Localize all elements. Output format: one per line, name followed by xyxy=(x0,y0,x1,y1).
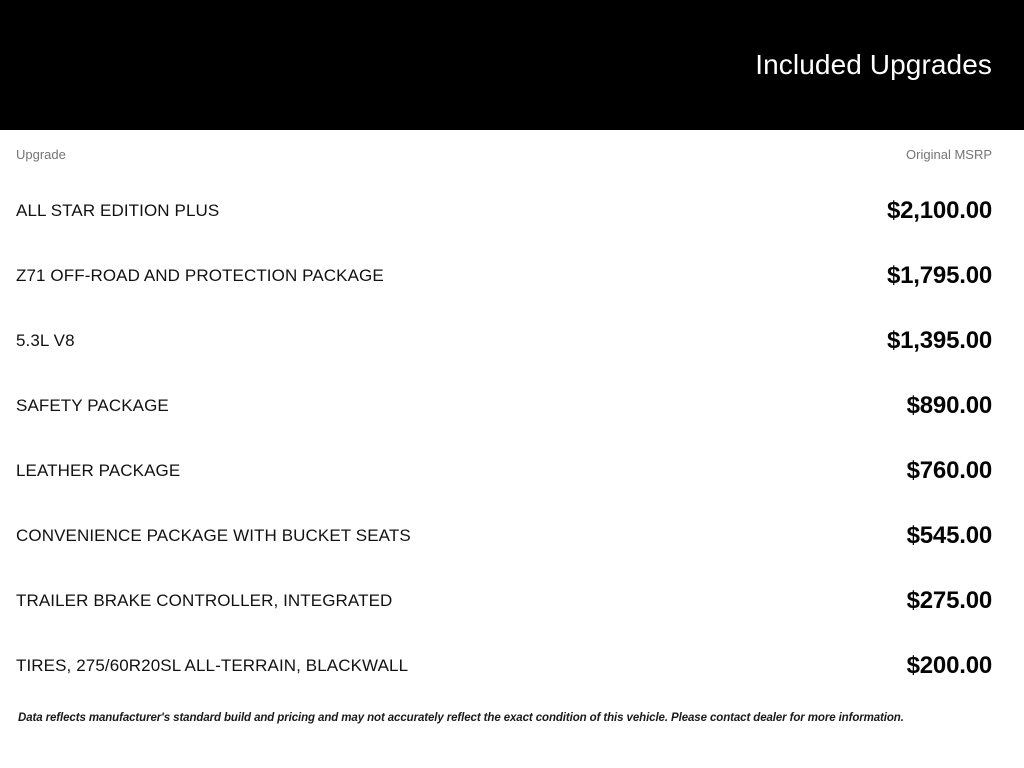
column-header-original-msrp: Original MSRP xyxy=(906,147,992,162)
upgrade-name: TRAILER BRAKE CONTROLLER, INTEGRATED xyxy=(16,591,408,611)
upgrade-msrp: $890.00 xyxy=(907,392,992,420)
upgrade-msrp: $275.00 xyxy=(907,587,992,615)
upgrade-msrp: $1,395.00 xyxy=(887,327,992,355)
table-body: ALL STAR EDITION PLUS$2,100.00Z71 OFF-RO… xyxy=(0,178,1024,698)
table-row: 5.3L V8$1,395.00 xyxy=(0,308,1024,373)
included-upgrades-page: Included Upgrades Upgrade Original MSRP … xyxy=(0,0,1024,768)
table-row: ALL STAR EDITION PLUS$2,100.00 xyxy=(0,178,1024,243)
page-title: Included Upgrades xyxy=(755,48,992,82)
page-header-band: Included Upgrades xyxy=(0,0,1024,130)
upgrade-msrp: $1,795.00 xyxy=(887,262,992,290)
upgrades-table: Upgrade Original MSRP ALL STAR EDITION P… xyxy=(0,130,1024,698)
table-row: SAFETY PACKAGE$890.00 xyxy=(0,373,1024,438)
upgrade-name: TIRES, 275/60R20SL ALL-TERRAIN, BLACKWAL… xyxy=(16,656,424,676)
upgrade-name: 5.3L V8 xyxy=(16,331,91,351)
table-row: TRAILER BRAKE CONTROLLER, INTEGRATED$275… xyxy=(0,568,1024,633)
table-row: LEATHER PACKAGE$760.00 xyxy=(0,438,1024,503)
upgrade-name: LEATHER PACKAGE xyxy=(16,461,196,481)
table-column-headers: Upgrade Original MSRP xyxy=(0,130,1024,178)
upgrade-name: SAFETY PACKAGE xyxy=(16,396,185,416)
table-row: TIRES, 275/60R20SL ALL-TERRAIN, BLACKWAL… xyxy=(0,633,1024,698)
table-row: CONVENIENCE PACKAGE WITH BUCKET SEATS$54… xyxy=(0,503,1024,568)
upgrade-name: CONVENIENCE PACKAGE WITH BUCKET SEATS xyxy=(16,526,427,546)
column-header-upgrade: Upgrade xyxy=(16,147,66,162)
upgrade-msrp: $545.00 xyxy=(907,522,992,550)
upgrade-msrp: $200.00 xyxy=(907,652,992,680)
disclaimer-footnote: Data reflects manufacturer's standard bu… xyxy=(18,711,1006,726)
upgrade-msrp: $2,100.00 xyxy=(887,197,992,225)
upgrade-name: ALL STAR EDITION PLUS xyxy=(16,201,235,221)
upgrade-name: Z71 OFF-ROAD AND PROTECTION PACKAGE xyxy=(16,266,400,286)
upgrade-msrp: $760.00 xyxy=(907,457,992,485)
table-row: Z71 OFF-ROAD AND PROTECTION PACKAGE$1,79… xyxy=(0,243,1024,308)
